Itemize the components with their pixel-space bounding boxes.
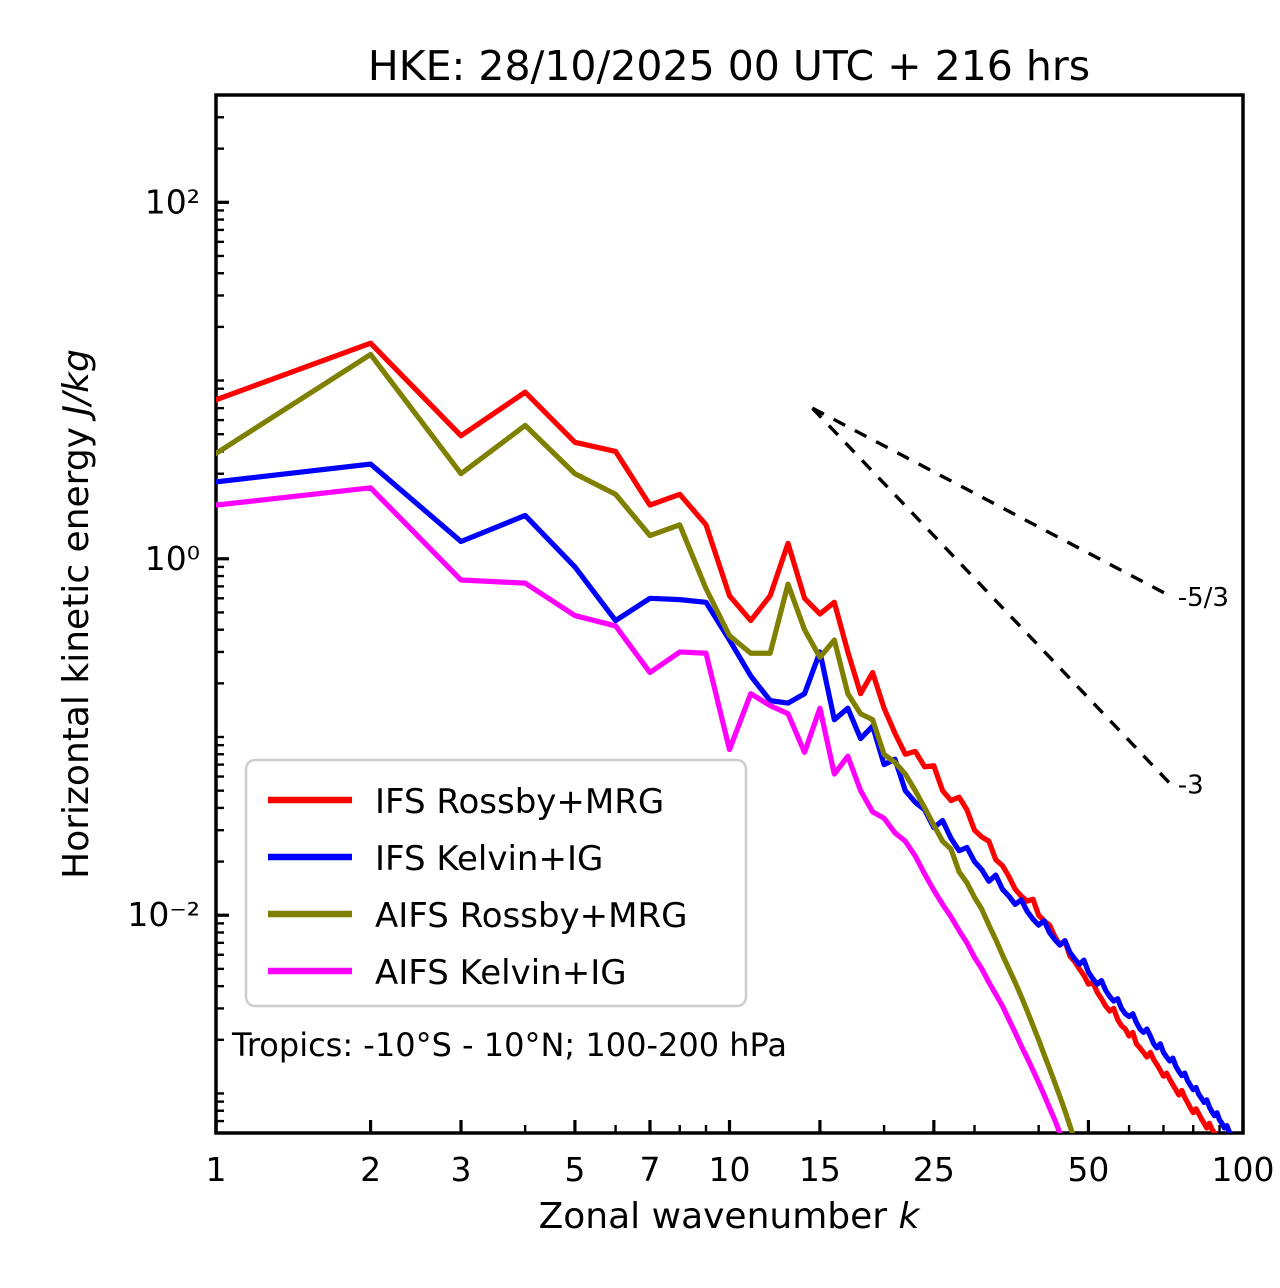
reference-line-3 [812,408,1169,783]
x-tick-label: 50 [1067,1150,1109,1189]
chart-title: HKE: 28/10/2025 00 UTC + 216 hrs [368,42,1090,90]
legend-label[interactable]: IFS Kelvin+IG [375,839,603,879]
x-tick-label: 25 [913,1150,955,1189]
x-tick-label: 1 [206,1150,227,1189]
chart-canvas: HKE: 28/10/2025 00 UTC + 216 hrs 1235710… [0,0,1280,1288]
y-tick-label: 10⁻² [127,895,200,934]
reference-line-53 [812,408,1169,596]
x-tick-label: 10 [709,1150,751,1189]
x-tick-label: 2 [360,1150,381,1189]
chart-figure: HKE: 28/10/2025 00 UTC + 216 hrs 1235710… [0,0,1280,1288]
x-tick-label: 7 [639,1150,660,1189]
reference-line-label: -5/3 [1178,583,1229,613]
legend-label[interactable]: AIFS Rossby+MRG [375,896,687,936]
y-axis-ticks: 10²10⁰10⁻² [127,182,229,934]
y-tick-label: 10⁰ [145,539,200,578]
y-tick-label: 10² [145,182,200,221]
region-annotation: Tropics: -10°S - 10°N; 100-200 hPa [231,1026,787,1064]
x-axis-label: Zonal wavenumber k [539,1196,922,1237]
reference-line-label: -3 [1178,770,1204,800]
x-axis-ticks: 1235710152550100 [206,1120,1275,1189]
x-tick-label: 100 [1212,1150,1275,1189]
legend-label[interactable]: IFS Rossby+MRG [375,782,664,822]
x-tick-label: 3 [451,1150,472,1189]
y-axis-label: Horizontal kinetic energy J/kg [56,349,97,879]
x-tick-label: 5 [564,1150,585,1189]
legend-label[interactable]: AIFS Kelvin+IG [375,953,627,993]
x-tick-label: 15 [799,1150,841,1189]
chart-legend[interactable]: IFS Rossby+MRGIFS Kelvin+IGAIFS Rossby+M… [246,760,746,1006]
